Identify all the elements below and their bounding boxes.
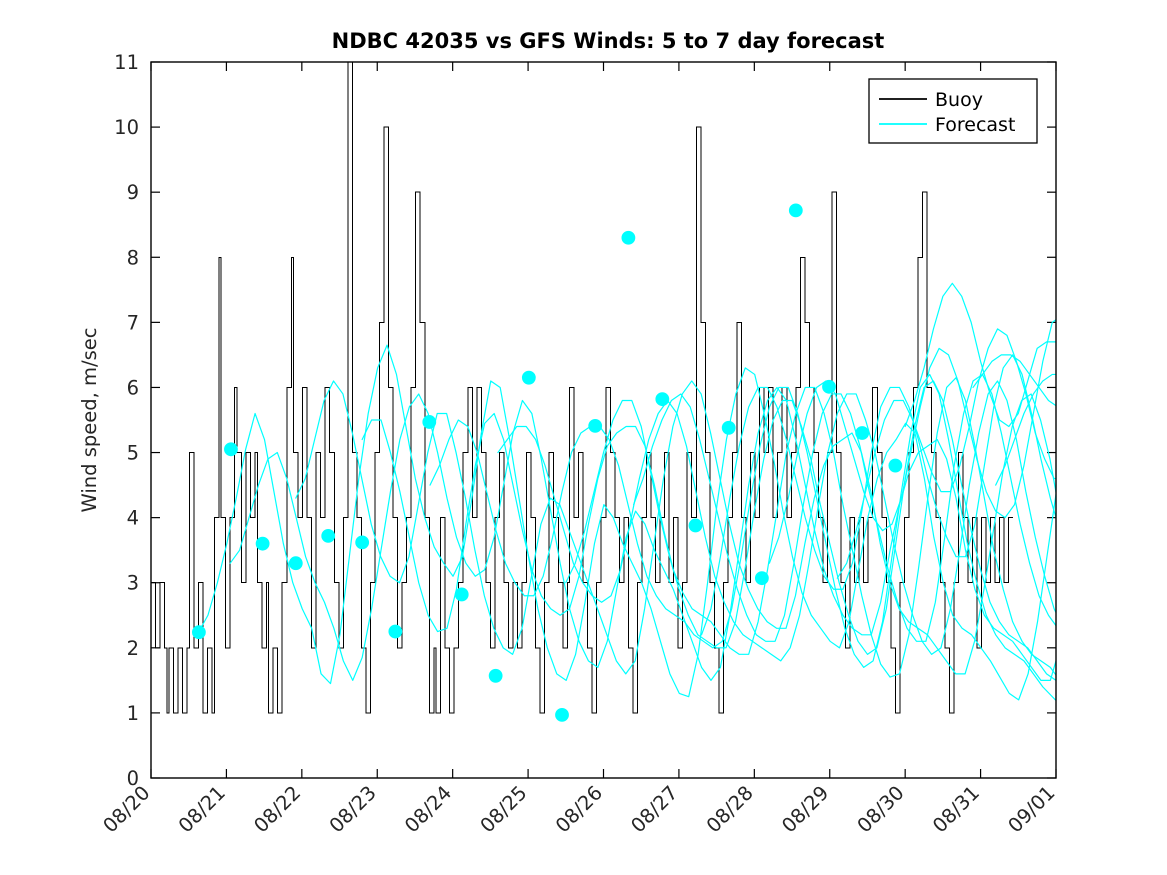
legend-label-buoy[interactable]: Buoy <box>935 89 983 111</box>
chart-svg: NDBC 42035 vs GFS Winds: 5 to 7 day fore… <box>0 0 1167 875</box>
forecast-marker-point <box>489 669 502 682</box>
forecast-marker-point <box>522 371 535 384</box>
y-tick-label: 9 <box>127 181 139 204</box>
y-tick-label: 11 <box>114 51 139 74</box>
y-tick-label: 8 <box>127 246 139 269</box>
y-tick-label: 4 <box>127 507 139 530</box>
chart-figure: NDBC 42035 vs GFS Winds: 5 to 7 day fore… <box>0 0 1167 875</box>
forecast-marker-point <box>689 519 702 532</box>
forecast-marker-point <box>889 459 902 472</box>
forecast-marker-point <box>224 443 237 456</box>
forecast-marker-point <box>656 393 669 406</box>
chart-title: NDBC 42035 vs GFS Winds: 5 to 7 day fore… <box>332 29 885 53</box>
forecast-marker-point <box>722 421 735 434</box>
y-tick-label: 10 <box>114 116 139 139</box>
y-tick-label: 6 <box>127 376 139 399</box>
forecast-marker-point <box>256 537 269 550</box>
forecast-marker-point <box>289 557 302 570</box>
forecast-marker-point <box>856 427 869 440</box>
forecast-marker-point <box>423 415 436 428</box>
legend-label-forecast[interactable]: Forecast <box>935 114 1015 136</box>
y-axis-label: Wind speed, m/sec <box>78 328 101 513</box>
y-tick-label: 1 <box>127 702 139 725</box>
forecast-marker-point <box>455 588 468 601</box>
y-tick-label: 5 <box>127 442 139 465</box>
forecast-marker-point <box>755 572 768 585</box>
forecast-marker-point <box>389 625 402 638</box>
forecast-marker-point <box>823 380 836 393</box>
y-tick-label: 2 <box>127 637 139 660</box>
forecast-marker-point <box>789 204 802 217</box>
forecast-marker-point <box>589 419 602 432</box>
forecast-marker-point <box>192 626 205 639</box>
forecast-marker-point <box>622 231 635 244</box>
y-tick-label: 7 <box>127 311 139 334</box>
y-tick-label: 3 <box>127 572 139 595</box>
forecast-marker-point <box>322 529 335 542</box>
chart-legend[interactable]: BuoyForecast <box>869 79 1037 143</box>
forecast-marker-point <box>356 536 369 549</box>
forecast-marker-point <box>556 708 569 721</box>
